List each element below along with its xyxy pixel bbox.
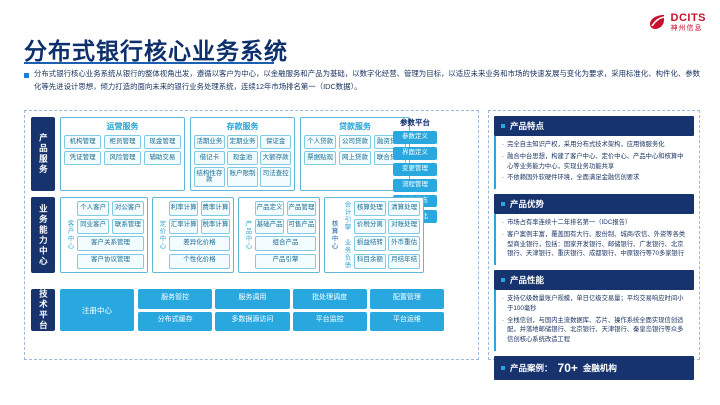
layer-label-capability-center: 业务能力中心 [31, 197, 55, 273]
dcits-logo: DCITS 神州信息 [647, 12, 707, 32]
list-item-text: 不依赖国外软硬件环境，全面满足金融信创要求 [507, 173, 639, 183]
chip-item[interactable]: 活期业务 [194, 135, 225, 149]
chip-item[interactable]: 个人贷款 [304, 135, 336, 149]
chip-item[interactable]: 现金池 [227, 151, 258, 165]
chip-item[interactable]: 同业客户 [77, 219, 109, 234]
list-item-text: 完全自主知识产权，采用分布式技术架构，应用微服务化 [507, 140, 664, 150]
card-header: 产品优势 [494, 194, 694, 214]
bullet-square-icon [501, 366, 505, 370]
chip-item[interactable]: 账户限制 [227, 167, 258, 187]
card-header: 产品性能 [494, 270, 694, 290]
tech-button-grid: 服务管控 服务调用 批处理调度 配置管理 分布式缓存 多数据源访问 平台监控 平… [138, 289, 444, 331]
chip-item[interactable]: 产品引擎 [255, 254, 316, 269]
card-header: 产品特点 [494, 116, 694, 136]
card-product-features: 产品特点 ·完全自主知识产权，采用分布式技术架构，应用微服务化 ·融合中台思想，… [494, 116, 694, 189]
logo-en-text: DCITS [671, 13, 707, 24]
chip-item[interactable]: 大额存款 [260, 151, 291, 165]
case-label: 产品案例： [510, 362, 553, 374]
chip-item[interactable]: 外币重估 [388, 236, 420, 251]
architecture-diagram: 产品服务 运营服务 机构管理 柜员管理 现金管理 凭证管理 风险管理 辅助交易 … [24, 110, 479, 360]
chip-item[interactable]: 联系管理 [112, 219, 144, 234]
bullet-dot-icon: · [502, 152, 504, 172]
tech-button[interactable]: 配置管理 [370, 289, 444, 309]
center-label-accounting: 核算中心 [328, 201, 338, 269]
chip-item[interactable]: 汇率计算 [169, 219, 198, 234]
capability-center-panels: 客户中心 个人客户 对公客户 同业客户 联系管理 客户关系管理 客户协议管理 定… [60, 197, 424, 273]
center-label-customer: 客户中心 [64, 201, 74, 269]
title-underline [24, 62, 274, 64]
tech-button[interactable]: 多数据源访问 [215, 312, 289, 332]
dcits-logo-mark-icon [647, 12, 667, 32]
card-product-performance: 产品性能 ·支持亿级数量账户规模，单日亿级交易量；平均交易响应时间小于100毫秒… [494, 270, 694, 351]
chip-item[interactable]: 个人客户 [77, 201, 109, 216]
bullet-dot-icon: · [502, 140, 504, 150]
param-button[interactable]: 变更管理 [393, 163, 437, 176]
chip-group-accounting: 核算处理 清算处理 价税分离 对账处理 损益结转 外币重估 科目余额 月结年结 [354, 201, 420, 269]
center-customer: 客户中心 个人客户 对公客户 同业客户 联系管理 客户关系管理 客户协议管理 [60, 197, 148, 273]
chip-item[interactable]: 公司贷款 [339, 135, 371, 149]
bullet-square-icon [501, 202, 505, 206]
chip-group-loan: 个人贷款 公司贷款 融资贷款 票据贴现 网上贷款 联合贷款 [304, 135, 406, 165]
chip-item[interactable]: 清算处理 [388, 201, 420, 216]
list-item-text: 融合中台思想，构建了客户中心、定价中心、产品中心和核算中心等业务能力中心，实现业… [507, 152, 689, 172]
chip-item[interactable]: 基础产品 [255, 219, 284, 234]
card-product-advantages: 产品优势 ·市场占有率连续十二年排名第一（IDC报告） ·客户案例丰富，覆盖国有… [494, 194, 694, 265]
list-item-text: 市场占有率连续十二年排名第一（IDC报告） [507, 218, 631, 228]
chip-item[interactable]: 差异化价格 [169, 236, 230, 251]
panel-title-operations: 运营服务 [64, 121, 181, 132]
case-number: 70+ [558, 361, 578, 375]
list-item: ·支持亿级数量账户规模，单日亿级交易量；平均交易响应时间小于100毫秒 [502, 294, 689, 314]
card-title: 产品优势 [510, 198, 544, 210]
chip-item[interactable]: 定期业务 [227, 135, 258, 149]
tech-platform-body: 注册中心 服务管控 服务调用 批处理调度 配置管理 分布式缓存 多数据源访问 平… [60, 289, 444, 331]
case-suffix: 金融机构 [583, 362, 617, 374]
tech-button[interactable]: 平台运维 [370, 312, 444, 332]
card-body: ·完全自主知识产权，采用分布式技术架构，应用微服务化 ·融合中台思想，构建了客户… [494, 136, 694, 189]
param-button[interactable]: 流程管理 [393, 179, 437, 192]
card-body: ·支持亿级数量账户规模，单日亿级交易量；平均交易响应时间小于100毫秒 ·全栈信… [494, 290, 694, 351]
chip-item[interactable]: 损益结转 [354, 236, 386, 251]
list-item: ·市场占有率连续十二年排名第一（IDC报告） [502, 218, 689, 228]
chip-item[interactable]: 核算处理 [354, 201, 386, 216]
tech-button[interactable]: 批处理调度 [293, 289, 367, 309]
product-case-banner: 产品案例： 70+ 金融机构 [494, 356, 694, 380]
chip-item[interactable]: 对公客户 [112, 201, 144, 216]
product-service-panels: 运营服务 机构管理 柜员管理 现金管理 凭证管理 风险管理 辅助交易 存款服务 … [60, 117, 410, 191]
chip-item[interactable]: 柜员管理 [104, 135, 141, 149]
chip-item[interactable]: 税率计算 [201, 219, 230, 234]
chip-item[interactable]: 对账处理 [388, 219, 420, 234]
param-platform-title: 参数平台 [393, 117, 437, 128]
param-button[interactable]: 界面定义 [393, 147, 437, 160]
center-sublabel-accounting: 会计引擎 业务负债 [341, 201, 351, 269]
logo-cn-text: 神州信息 [671, 25, 707, 32]
chip-item[interactable]: 结构性存款 [194, 167, 225, 187]
param-button[interactable]: 参数定义 [393, 131, 437, 144]
panel-title-loan: 贷款服务 [304, 121, 406, 132]
bullet-dot-icon: · [502, 294, 504, 314]
list-item: ·不依赖国外软硬件环境，全面满足金融信创要求 [502, 173, 689, 183]
layer-product-services: 产品服务 运营服务 机构管理 柜员管理 现金管理 凭证管理 风险管理 辅助交易 … [31, 117, 410, 191]
panel-deposit: 存款服务 活期业务 定期业务 保证金 借记卡 现金池 大额存款 结构性存款 账户… [190, 117, 295, 191]
chip-item[interactable]: 风险管理 [104, 151, 141, 165]
list-item-text: 全栈信创，与国内主流数据库、芯片、操作系统全面实现信创适配，并落地邮储银行、北京… [507, 316, 689, 345]
center-label-product: 产品中心 [242, 201, 252, 269]
bullet-dot-icon: · [502, 218, 504, 228]
tech-button[interactable]: 服务管控 [138, 289, 212, 309]
chip-group-operations: 机构管理 柜员管理 现金管理 凭证管理 风险管理 辅助交易 [64, 135, 181, 165]
chip-item[interactable]: 机构管理 [64, 135, 101, 149]
slide-root: DCITS 神州信息 分布式银行核心业务系统 分布式银行核心业务系统从银行的整体… [0, 0, 720, 405]
chip-item[interactable]: 司法查控 [260, 167, 291, 187]
chip-item[interactable]: 票据贴现 [304, 151, 336, 165]
chip-item[interactable]: 网上贷款 [339, 151, 371, 165]
chip-item[interactable]: 费率计算 [201, 201, 230, 216]
layer-tech-platform: 技术平台 注册中心 服务管控 服务调用 批处理调度 配置管理 分布式缓存 多数据… [31, 289, 444, 331]
chip-item[interactable]: 客户关系管理 [77, 236, 144, 251]
layer-label-tech-platform: 技术平台 [31, 289, 55, 331]
card-body: ·市场占有率连续十二年排名第一（IDC报告） ·客户案例丰富，覆盖国有大行、股份… [494, 214, 694, 265]
chip-item[interactable]: 辅助交易 [144, 151, 181, 165]
card-title: 产品性能 [510, 274, 544, 286]
bullet-dot-icon: · [502, 173, 504, 183]
list-item: ·融合中台思想，构建了客户中心、定价中心、产品中心和核算中心等业务能力中心，实现… [502, 152, 689, 172]
chip-item[interactable]: 科目余额 [354, 254, 386, 269]
chip-group-customer: 个人客户 对公客户 同业客户 联系管理 客户关系管理 客户协议管理 [77, 201, 144, 269]
bullet-dot-icon: · [502, 316, 504, 345]
chip-group-deposit: 活期业务 定期业务 保证金 借记卡 现金池 大额存款 结构性存款 账户限制 司法… [194, 135, 291, 187]
list-item-text: 客户案例丰富，覆盖国有大行、股份制、城商/农信、外资等各类型商业银行，包括：国家… [507, 230, 689, 259]
chip-item[interactable]: 产品定义 [255, 201, 284, 216]
chip-item[interactable]: 凭证管理 [64, 151, 101, 165]
center-label-pricing: 定价中心 [156, 201, 166, 269]
intro-paragraph: 分布式银行核心业务系统从银行的整体视角出发，遵循以客户为中心，以金融服务和产品为… [24, 68, 700, 94]
chip-item[interactable]: 保证金 [260, 135, 291, 149]
chip-item[interactable]: 利率计算 [169, 201, 198, 216]
list-item: ·完全自主知识产权，采用分布式技术架构，应用微服务化 [502, 140, 689, 150]
chip-item[interactable]: 月结年结 [388, 254, 420, 269]
chip-group-product: 产品定义 产品管理 基础产品 可售产品 组合产品 产品引擎 [255, 201, 316, 269]
chip-item[interactable]: 组合产品 [255, 236, 316, 251]
bullet-square-icon [24, 73, 29, 78]
registry-center-button[interactable]: 注册中心 [60, 289, 134, 331]
tech-button[interactable]: 平台监控 [293, 312, 367, 332]
bullet-dot-icon: · [502, 230, 504, 259]
chip-group-pricing: 利率计算 费率计算 汇率计算 税率计算 差异化价格 个性化价格 [169, 201, 230, 269]
chip-item[interactable]: 可售产品 [287, 219, 316, 234]
tech-button[interactable]: 分布式缓存 [138, 312, 212, 332]
panel-operations: 运营服务 机构管理 柜员管理 现金管理 凭证管理 风险管理 辅助交易 [60, 117, 185, 191]
chip-item[interactable]: 现金管理 [144, 135, 181, 149]
list-item-text: 支持亿级数量账户规模，单日亿级交易量；平均交易响应时间小于100毫秒 [507, 294, 689, 314]
intro-text: 分布式银行核心业务系统从银行的整体视角出发，遵循以客户为中心，以金融服务和产品为… [34, 68, 700, 94]
chip-item[interactable]: 产品管理 [287, 201, 316, 216]
bullet-square-icon [501, 278, 505, 282]
chip-item[interactable]: 个性化价格 [169, 254, 230, 269]
chip-item[interactable]: 借记卡 [194, 151, 225, 165]
layer-label-product-services: 产品服务 [31, 117, 55, 191]
card-title: 产品特点 [510, 120, 544, 132]
center-product: 产品中心 产品定义 产品管理 基础产品 可售产品 组合产品 产品引擎 [238, 197, 320, 273]
panel-title-deposit: 存款服务 [194, 121, 291, 132]
chip-item[interactable]: 客户协议管理 [77, 254, 144, 269]
center-pricing: 定价中心 利率计算 费率计算 汇率计算 税率计算 差异化价格 个性化价格 [152, 197, 234, 273]
page-title: 分布式银行核心业务系统 [24, 32, 288, 66]
chip-item[interactable]: 价税分离 [354, 219, 386, 234]
center-accounting: 核算中心 会计引擎 业务负债 核算处理 清算处理 价税分离 对账处理 损益结转 … [324, 197, 424, 273]
list-item: ·全栈信创，与国内主流数据库、芯片、操作系统全面实现信创适配，并落地邮储银行、北… [502, 316, 689, 345]
right-info-panel: 产品特点 ·完全自主知识产权，采用分布式技术架构，应用微服务化 ·融合中台思想，… [488, 110, 700, 360]
bullet-square-icon [501, 124, 505, 128]
layer-capability-center: 业务能力中心 客户中心 个人客户 对公客户 同业客户 联系管理 客户关系管理 客… [31, 197, 424, 273]
tech-button[interactable]: 服务调用 [215, 289, 289, 309]
list-item: ·客户案例丰富，覆盖国有大行、股份制、城商/农信、外资等各类型商业银行，包括：国… [502, 230, 689, 259]
